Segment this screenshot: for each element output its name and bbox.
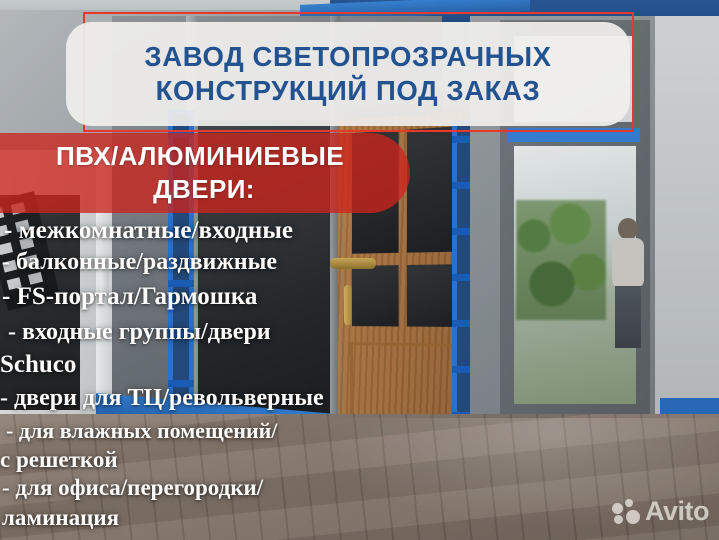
feature-item: - FS-портал/Гармошка: [2, 284, 257, 309]
ad-image: ЗАВОД СВЕТОПРОЗРАЧНЫХ КОНСТРУКЦИЙ ПОД ЗА…: [0, 0, 719, 540]
feature-item: - балконные/раздвижные: [2, 250, 277, 274]
banner-line-2: ДВЕРИ:: [153, 173, 255, 206]
headline-box: ЗАВОД СВЕТОПРОЗРАЧНЫХ КОНСТРУКЦИЙ ПОД ЗА…: [66, 22, 630, 126]
avito-watermark: Avito: [612, 496, 709, 527]
feature-item: - для влажных помещений/: [6, 420, 277, 442]
feature-item: ламинация: [2, 506, 119, 529]
feature-item: - двери для ТЦ/револьверные: [0, 386, 324, 410]
feature-item: Schuco: [0, 352, 76, 377]
headline-line-2: КОНСТРУКЦИЙ ПОД ЗАКАЗ: [156, 74, 541, 108]
avito-wordmark: Avito: [645, 496, 709, 527]
headline-line-1: ЗАВОД СВЕТОПРОЗРАЧНЫХ: [144, 40, 551, 74]
avito-logo-icon: [612, 499, 641, 525]
banner-line-1: ПВХ/АЛЮМИНИЕВЫЕ: [56, 140, 344, 173]
feature-item: - для офиса/перегородки/: [2, 476, 263, 499]
feature-item: с решеткой: [0, 448, 118, 471]
category-banner: ПВХ/АЛЮМИНИЕВЫЕ ДВЕРИ:: [0, 133, 410, 213]
feature-item: - межкомнатные/входные: [4, 218, 293, 243]
feature-item: - входные группы/двери: [8, 320, 271, 344]
